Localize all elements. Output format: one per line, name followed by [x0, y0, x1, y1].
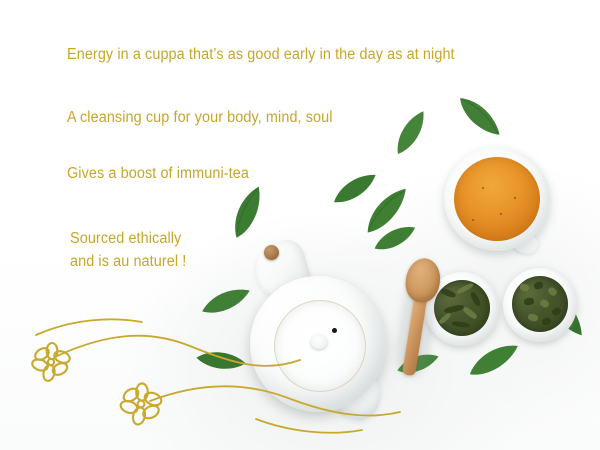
copy-line-2: A cleansing cup for your body, mind, sou… — [67, 109, 333, 127]
copy-line-4a: Sourced ethically — [70, 230, 181, 248]
copy-line-3: Gives a boost of immuni-tea — [67, 165, 249, 183]
copy-line-4b: and is au naturel ! — [70, 253, 186, 271]
tea-promo-image: Energy in a cuppa that’s as good early i… — [0, 0, 600, 450]
marketing-copy: Energy in a cuppa that’s as good early i… — [0, 0, 600, 450]
copy-line-1: Energy in a cuppa that’s as good early i… — [67, 46, 455, 64]
